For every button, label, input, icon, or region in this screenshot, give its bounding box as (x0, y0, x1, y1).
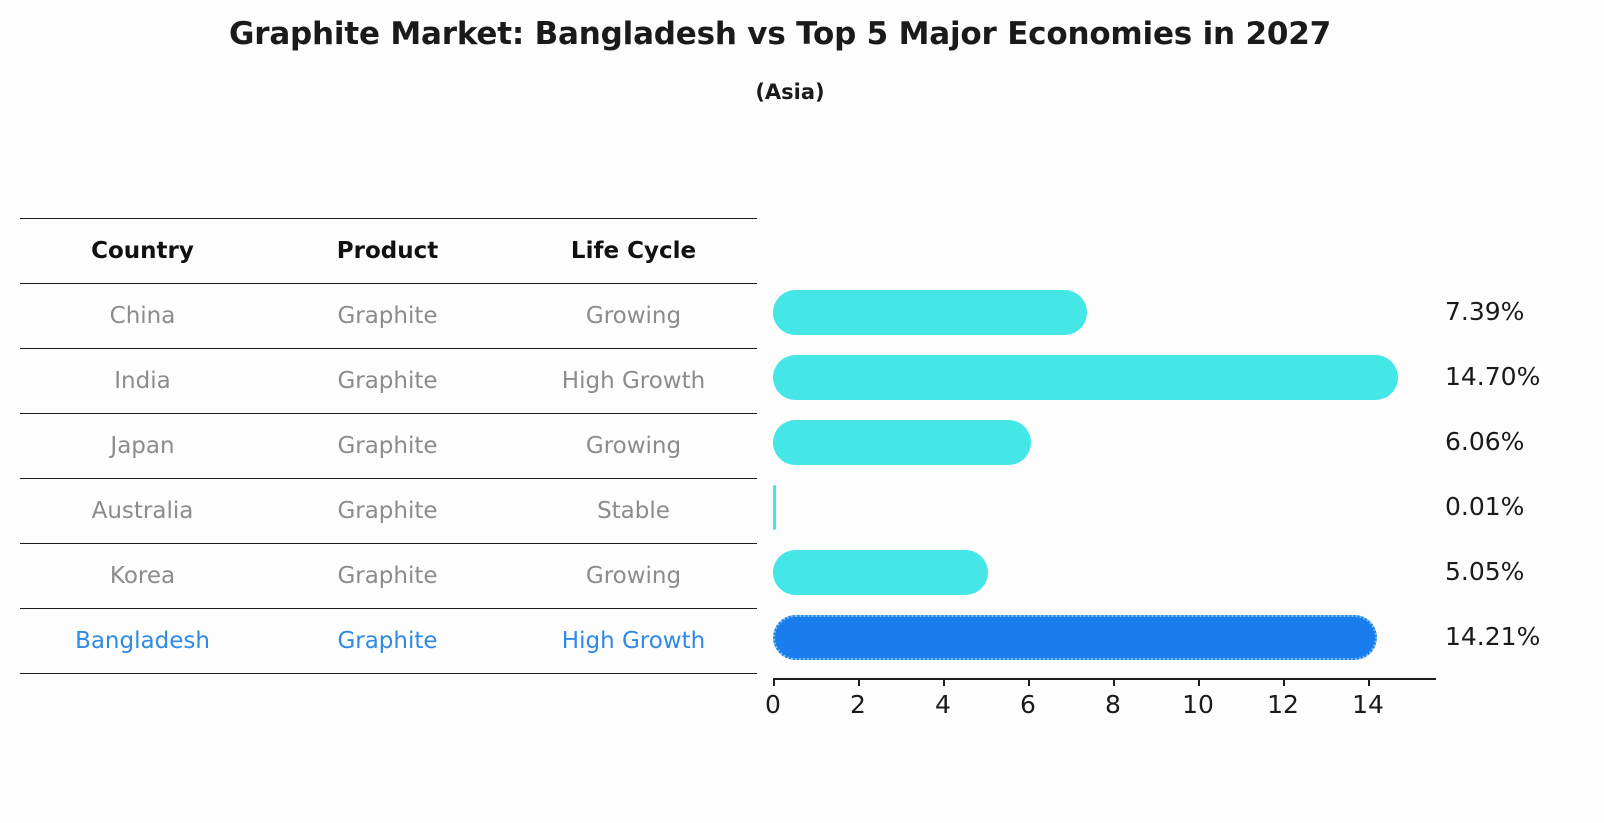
x-tick-6 (1028, 678, 1030, 686)
x-tick-label-0: 0 (765, 690, 781, 719)
bar-india[interactable] (773, 355, 1398, 400)
x-tick-2 (858, 678, 860, 686)
x-tick-label-2: 2 (850, 690, 866, 719)
x-tick-14 (1368, 678, 1370, 686)
bar-bangladesh[interactable] (773, 615, 1377, 660)
value-label-australia: 0.01% (1445, 492, 1524, 521)
value-label-bangladesh: 14.21% (1445, 622, 1540, 651)
x-tick-label-4: 4 (935, 690, 951, 719)
bar-australia[interactable] (773, 485, 776, 530)
bar-korea[interactable] (773, 550, 988, 595)
x-tick-label-12: 12 (1267, 690, 1299, 719)
bar-china[interactable] (773, 290, 1087, 335)
x-tick-8 (1113, 678, 1115, 686)
value-label-korea: 5.05% (1445, 557, 1524, 586)
chart-canvas: Graphite Market: Bangladesh vs Top 5 Maj… (0, 0, 1604, 823)
bar-japan[interactable] (773, 420, 1031, 465)
x-tick-0 (773, 678, 775, 686)
value-label-china: 7.39% (1445, 297, 1524, 326)
x-tick-10 (1198, 678, 1200, 686)
x-tick-label-10: 10 (1182, 690, 1214, 719)
x-tick-label-8: 8 (1105, 690, 1121, 719)
x-tick-label-6: 6 (1020, 690, 1036, 719)
x-tick-12 (1283, 678, 1285, 686)
value-label-japan: 6.06% (1445, 427, 1524, 456)
x-tick-label-14: 14 (1352, 690, 1384, 719)
value-label-india: 14.70% (1445, 362, 1540, 391)
x-axis-line (773, 678, 1436, 680)
x-tick-4 (943, 678, 945, 686)
